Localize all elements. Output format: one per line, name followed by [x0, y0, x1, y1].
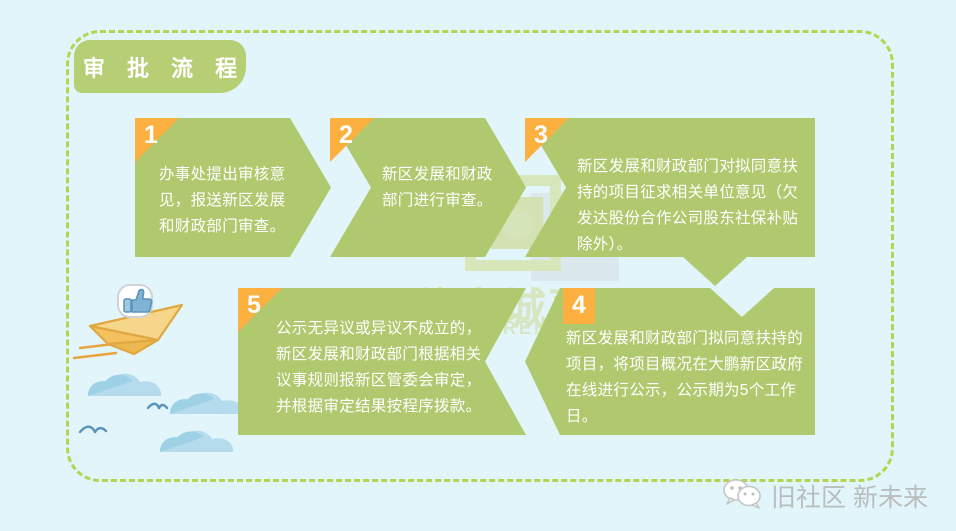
step-box-4[interactable]: 4 新区发展和财政部门拟同意扶持的项目，将项目概况在大鹏新区政府在线进行公示，公…: [525, 288, 815, 435]
step-text-3: 新区发展和财政部门对拟同意扶持的项目征求相关单位意见（欠发达股份合作公司股东社保…: [577, 154, 803, 258]
footer-brand-text: 旧社区 新未来: [771, 478, 928, 514]
step-text-2: 新区发展和财政部门进行审查。: [382, 162, 498, 214]
title-banner: 审 批 流 程: [74, 40, 246, 93]
paper-plane-icon: [90, 285, 182, 354]
infographic-canvas: 审 批 流 程 佳宏城更 URBAN RENEWAL: [0, 0, 956, 531]
step-text-1: 办事处提出审核意见，报送新区发展和财政部门审查。: [159, 162, 291, 240]
page-title: 审 批 流 程: [75, 51, 245, 83]
step-box-5[interactable]: 5 公示无异议或异议不成立的，新区发展和财政部门根据相关议事规则报新区管委会审定…: [238, 288, 526, 435]
step-number-1: 1: [144, 121, 158, 149]
step-box-3[interactable]: 3 新区发展和财政部门对拟同意扶持的项目征求相关单位意见（欠发达股份合作公司股东…: [525, 118, 815, 286]
step-number-badge-2: 2: [330, 118, 374, 162]
bird-shapes: [80, 404, 167, 432]
step-text-4: 新区发展和财政部门拟同意扶持的项目，将项目概况在大鹏新区政府在线进行公示，公示期…: [566, 326, 804, 430]
step-number-badge-3: 3: [525, 118, 569, 162]
footer-brand: 旧社区 新未来: [722, 478, 928, 514]
step-number-2: 2: [339, 121, 353, 149]
step-box-1[interactable]: 1 办事处提出审核意见，报送新区发展和财政部门审查。: [135, 118, 331, 257]
step-box-2[interactable]: 2 新区发展和财政部门进行审查。: [330, 118, 526, 257]
step-number-5: 5: [247, 291, 261, 319]
wechat-icon: [722, 479, 764, 514]
cloud-shapes: [88, 374, 243, 452]
step-number-3: 3: [534, 121, 548, 149]
step-number-badge-1: 1: [135, 118, 179, 162]
step-text-5: 公示无异议或异议不成立的，新区发展和财政部门根据相关议事规则报新区管委会审定，并…: [276, 316, 488, 420]
step-number-4: 4: [572, 291, 586, 319]
